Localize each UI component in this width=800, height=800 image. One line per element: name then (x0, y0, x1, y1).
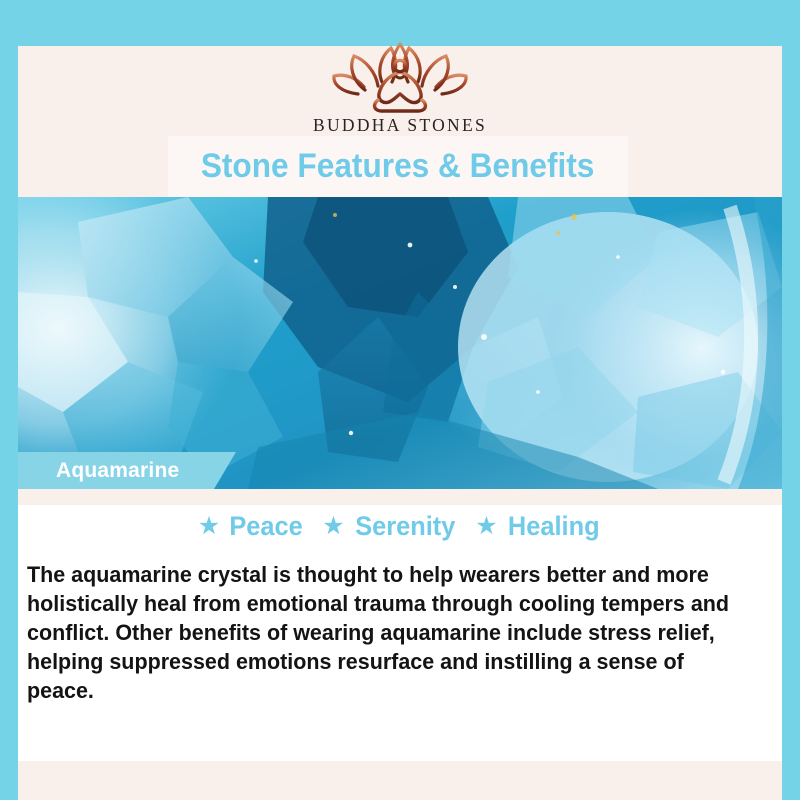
benefit-label-healing: Healing (508, 511, 600, 542)
benefit-item: ★ Serenity (322, 511, 458, 542)
benefit-label-peace: Peace (230, 511, 303, 542)
frame-left-strip (0, 46, 18, 800)
stone-name-text: Aquamarine (56, 459, 179, 483)
stone-info-card: BUDDHA STONES Stone Features & Benefits (0, 0, 800, 800)
frame-top-bar (0, 0, 800, 46)
star-icon: ★ (475, 514, 497, 539)
lower-cream-strip (18, 489, 782, 505)
page-title: Stone Features & Benefits (201, 147, 595, 186)
benefit-item: ★ Peace (198, 511, 306, 542)
crystal-image (18, 197, 782, 489)
brand-name: BUDDHA STONES (313, 115, 487, 136)
title-banner: Stone Features & Benefits (168, 136, 628, 197)
benefit-label-serenity: Serenity (355, 511, 455, 542)
aquamarine-crystal-photo (18, 197, 782, 489)
lotus-meditation-icon (325, 42, 475, 114)
star-icon: ★ (322, 514, 344, 539)
brand-logo: BUDDHA STONES (18, 46, 782, 146)
benefit-item: ★ Healing (475, 511, 602, 542)
stone-name-label: Aquamarine (18, 452, 236, 489)
bottom-white-strip (18, 758, 782, 761)
frame-right-strip (782, 0, 800, 800)
star-icon: ★ (198, 514, 220, 539)
benefits-row: ★ Peace ★ Serenity ★ Healing (18, 511, 782, 542)
description-text: The aquamarine crystal is thought to hel… (27, 560, 741, 705)
